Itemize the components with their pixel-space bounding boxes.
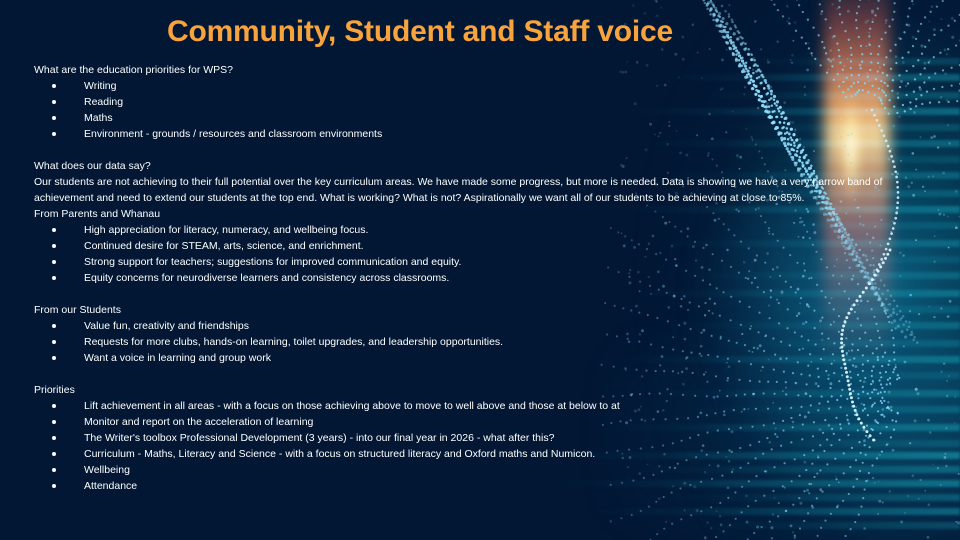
bullet-icon [52,420,56,424]
list-item-label: Requests for more clubs, hands-on learni… [84,336,503,348]
bullet-icon [52,404,56,408]
slide-title: Community, Student and Staff voice [0,15,840,49]
list-item-label: Reading [84,96,123,108]
list-item-label: High appreciation for literacy, numeracy… [84,224,368,236]
list-item: Writing [34,78,934,94]
list-item: Value fun, creativity and friendships [34,318,934,334]
bullet-icon [52,100,56,104]
bullet-icon [52,468,56,472]
list-item-label: Strong support for teachers; suggestions… [84,256,461,268]
list-item-label: Lift achievement in all areas - with a f… [84,400,620,412]
list-item-label: Maths [84,112,113,124]
bullet-icon [52,244,56,248]
list-item: Strong support for teachers; suggestions… [34,254,934,270]
list-parents-whanau: High appreciation for literacy, numeracy… [34,222,934,286]
bullet-icon [52,228,56,232]
list-item: High appreciation for literacy, numeracy… [34,222,934,238]
heading-priorities: Priorities [34,382,934,398]
list-item: Maths [34,110,934,126]
bullet-icon [52,260,56,264]
list-item-label: Wellbeing [84,464,130,476]
list-item-label: Attendance [84,480,137,492]
bullet-icon [52,356,56,360]
heading-parents-whanau: From Parents and Whanau [34,206,934,222]
list-item-label: Environment - grounds / resources and cl… [84,128,382,140]
list-item: Reading [34,94,934,110]
list-item-label: Curriculum - Maths, Literacy and Science… [84,448,595,460]
list-item: Requests for more clubs, hands-on learni… [34,334,934,350]
bullet-icon [52,340,56,344]
bullet-icon [52,324,56,328]
bullet-icon [52,132,56,136]
heading-education-priorities: What are the education priorities for WP… [34,62,934,78]
list-item-label: Monitor and report on the acceleration o… [84,416,313,428]
list-item: Continued desire for STEAM, arts, scienc… [34,238,934,254]
list-item: Lift achievement in all areas - with a f… [34,398,934,414]
list-item: Want a voice in learning and group work [34,350,934,366]
list-item: Wellbeing [34,462,934,478]
list-item: The Writer's toolbox Professional Develo… [34,430,934,446]
list-item: Attendance [34,478,934,494]
section-spacer [34,366,934,382]
list-item: Monitor and report on the acceleration o… [34,414,934,430]
list-item-label: Continued desire for STEAM, arts, scienc… [84,240,364,252]
heading-our-students: From our Students [34,302,934,318]
list-our-students: Value fun, creativity and friendships Re… [34,318,934,366]
list-education-priorities: Writing Reading Maths Environment - grou… [34,78,934,142]
bullet-icon [52,436,56,440]
slide-body: What are the education priorities for WP… [34,62,934,494]
bullet-icon [52,484,56,488]
paragraph-our-data: Our students are not achieving to their … [34,174,914,206]
list-item: Curriculum - Maths, Literacy and Science… [34,446,934,462]
list-item: Environment - grounds / resources and cl… [34,126,934,142]
bullet-icon [52,452,56,456]
list-item-label: The Writer's toolbox Professional Develo… [84,432,554,444]
bullet-icon [52,276,56,280]
list-item: Equity concerns for neurodiverse learner… [34,270,934,286]
list-item-label: Equity concerns for neurodiverse learner… [84,272,449,284]
list-item-label: Want a voice in learning and group work [84,352,271,364]
bullet-icon [52,116,56,120]
presentation-slide: Community, Student and Staff voice What … [0,0,960,540]
section-spacer [34,142,934,158]
bullet-icon [52,84,56,88]
list-item-label: Value fun, creativity and friendships [84,320,249,332]
slide-content: Community, Student and Staff voice What … [0,0,960,540]
list-priorities: Lift achievement in all areas - with a f… [34,398,934,494]
list-item-label: Writing [84,80,116,92]
heading-our-data: What does our data say? [34,158,934,174]
section-spacer [34,286,934,302]
